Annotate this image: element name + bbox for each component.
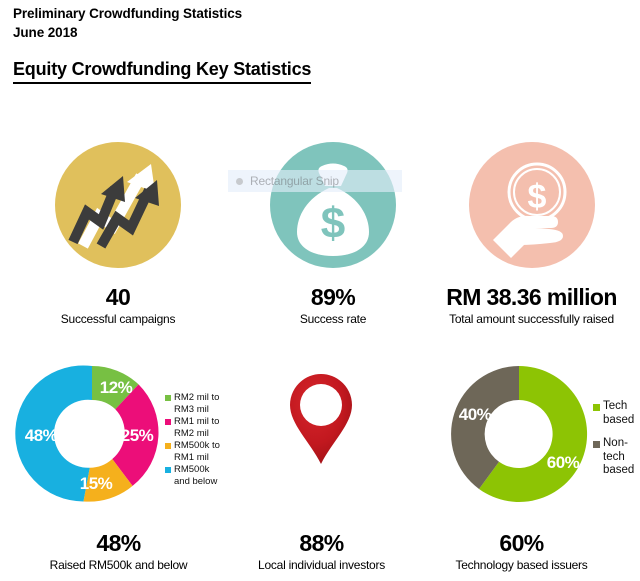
legend-label: Tech based [603, 400, 634, 427]
hand-holding-coin-icon: $ [469, 142, 595, 268]
stat-success-rate: 89% Success rate [241, 284, 425, 327]
legend-swatch-icon [593, 404, 600, 411]
stat-caption: Raised RM500k and below [21, 557, 216, 573]
stat-raised-rm500k-below: 48% Raised RM500k and below [21, 530, 216, 573]
donut-slice-label-0: 60% [547, 453, 580, 472]
legend-label: RM1 mil to RM2 mil [174, 416, 219, 439]
stat-value: 48% [21, 530, 216, 556]
stat-value: 40 [26, 284, 210, 310]
stat-caption: Local individual investors [224, 557, 419, 573]
stat-caption: Successful campaigns [26, 311, 210, 327]
stat-local-individual-investors: 88% Local individual investors [224, 530, 419, 573]
legend-label: RM500k to RM1 mil [174, 440, 220, 463]
money-bag-icon: $ [270, 142, 396, 268]
legend-item: RM500k and below [165, 464, 220, 487]
document-header: Preliminary Crowdfunding Statistics June… [13, 4, 242, 42]
map-pin-icon [288, 372, 354, 468]
legend-swatch-icon [165, 419, 171, 425]
donut-slice-label-1: 40% [459, 405, 492, 424]
header-line-2: June 2018 [13, 23, 242, 42]
legend-swatch-icon [165, 395, 171, 401]
stat-value: 60% [424, 530, 619, 556]
stat-technology-based-issuers: 60% Technology based issuers [424, 530, 619, 573]
donut-chart-issuer-type: 60% 40% [443, 358, 595, 510]
stat-value: 88% [224, 530, 419, 556]
svg-text:$: $ [321, 199, 345, 248]
stat-caption: Technology based issuers [424, 557, 619, 573]
stat-value: RM 38.36 million [423, 284, 640, 310]
legend-swatch-icon [165, 467, 171, 473]
legend-swatch-icon [165, 443, 171, 449]
svg-text:$: $ [528, 178, 547, 216]
legend-item: RM500k to RM1 mil [165, 440, 220, 463]
stat-successful-campaigns: 40 Successful campaigns [26, 284, 210, 327]
stat-value: 89% [241, 284, 425, 310]
donut-legend-issuer-type: Tech based Non- tech based [593, 400, 634, 479]
stat-caption: Total amount successfully raised [423, 311, 640, 327]
growth-arrows-icon [55, 142, 181, 268]
donut-legend-raised-amount: RM2 mil to RM3 mil RM1 mil to RM2 mil RM… [165, 392, 220, 488]
stat-total-raised: RM 38.36 million Total amount successful… [423, 284, 640, 327]
header-line-1: Preliminary Crowdfunding Statistics [13, 4, 242, 23]
legend-label: RM2 mil to RM3 mil [174, 392, 219, 415]
donut-slice-label-3: 48% [25, 426, 58, 445]
legend-label: Non- tech based [603, 437, 634, 478]
legend-item: Tech based [593, 400, 634, 427]
donut-slice-label-0: 12% [100, 378, 133, 397]
legend-swatch-icon [593, 441, 600, 448]
recording-dot-icon [236, 178, 243, 185]
donut-chart-raised-amount: 12% 25% 15% 48% [16, 358, 168, 510]
donut-slice-label-1: 25% [121, 426, 154, 445]
legend-item: RM2 mil to RM3 mil [165, 392, 220, 415]
page-title: Equity Crowdfunding Key Statistics [13, 59, 311, 84]
legend-label: RM500k and below [174, 464, 217, 487]
legend-item: RM1 mil to RM2 mil [165, 416, 220, 439]
donut-slice-label-2: 15% [80, 474, 113, 493]
legend-item: Non- tech based [593, 437, 634, 478]
stat-caption: Success rate [241, 311, 425, 327]
